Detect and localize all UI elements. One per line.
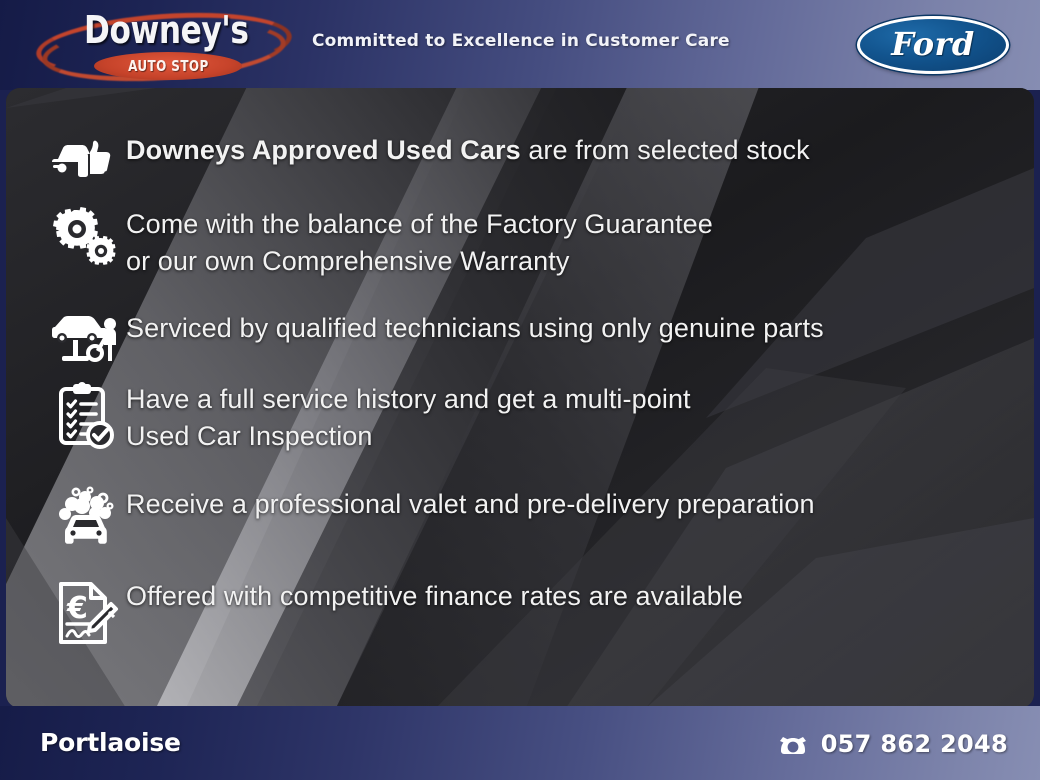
car-lift-mechanic-icon	[46, 310, 126, 366]
telephone-icon	[777, 730, 809, 758]
header-tagline: Committed to Excellence in Customer Care	[312, 31, 730, 51]
ford-wordmark: Ford	[857, 16, 1009, 74]
location-label: Portlaoise	[40, 728, 181, 757]
car-wash-icon	[46, 486, 126, 554]
header-bar: Downey's AUTO STOP Committed to Excellen…	[0, 0, 1040, 90]
list-item: Come with the balance of the Factory Gua…	[46, 206, 713, 280]
list-item: Receive a professional valet and pre-del…	[46, 486, 815, 554]
logo-pill: AUTO STOP	[94, 52, 242, 80]
list-item-text: Offered with competitive finance rates a…	[126, 578, 743, 615]
ford-logo[interactable]: Ford	[857, 16, 1009, 74]
list-item-text: Come with the balance of the Factory Gua…	[126, 206, 713, 280]
logo-subtext: AUTO STOP	[128, 57, 209, 75]
list-item: Have a full service history and get a mu…	[46, 381, 691, 455]
logo-wordmark: Downey's	[84, 8, 248, 52]
benefits-list: Downeys Approved Used Cars are from sele…	[6, 88, 1034, 708]
euro-document-pen-icon: €	[46, 578, 126, 648]
list-item-rest: are from selected stock	[521, 135, 810, 165]
list-item: Downeys Approved Used Cars are from sele…	[46, 132, 810, 180]
list-item-line: Come with the balance of the Factory Gua…	[126, 206, 713, 243]
list-item-line: Have a full service history and get a mu…	[126, 381, 691, 418]
list-item-text: Downeys Approved Used Cars are from sele…	[126, 132, 810, 169]
list-item-line: Used Car Inspection	[126, 418, 691, 455]
car-thumbs-up-icon	[46, 132, 126, 180]
list-item-text: Receive a professional valet and pre-del…	[126, 486, 815, 523]
clipboard-check-icon	[46, 381, 126, 451]
benefits-panel: Downeys Approved Used Cars are from sele…	[6, 88, 1034, 708]
phone-number: 057 862 2048	[821, 730, 1008, 758]
list-item-text: Serviced by qualified technicians using …	[126, 310, 824, 347]
gears-icon	[46, 206, 126, 268]
list-item: Serviced by qualified technicians using …	[46, 310, 824, 366]
svg-text:€: €	[66, 591, 88, 626]
footer-bar: Portlaoise 057 862 2048	[0, 706, 1040, 780]
list-item-emphasis: Downeys Approved Used Cars	[126, 135, 521, 165]
list-item-line: or our own Comprehensive Warranty	[126, 243, 713, 280]
phone-contact[interactable]: 057 862 2048	[777, 730, 1008, 758]
downeys-logo[interactable]: Downey's AUTO STOP	[34, 4, 296, 88]
list-item: € Offered with competitive finance rates…	[46, 578, 743, 648]
advert-page: Downey's AUTO STOP Committed to Excellen…	[0, 0, 1040, 780]
list-item-text: Have a full service history and get a mu…	[126, 381, 691, 455]
